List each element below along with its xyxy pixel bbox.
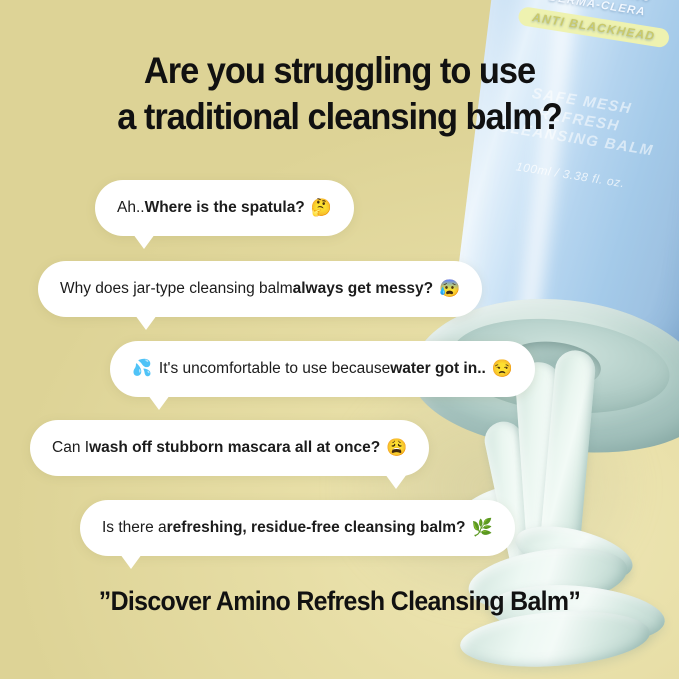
speech-bubble-spatula: Ah.. Where is the spatula? 🤔 xyxy=(95,180,354,236)
weary-face-icon: 😩 xyxy=(386,437,407,458)
bubble-tail xyxy=(133,234,155,249)
label-badge-anti-blackhead: ANTI BLACKHEAD xyxy=(517,6,670,49)
herb-leaf-icon: 🌿 xyxy=(472,517,493,538)
bubble-tail xyxy=(385,474,407,489)
bubble-tail xyxy=(120,554,142,569)
sweat-droplets-icon: 💦 xyxy=(132,359,152,379)
bubble-text-normal: It's uncomfortable to use because xyxy=(159,359,390,378)
label-volume: 100ml / 3.38 fl. oz. xyxy=(446,148,679,201)
bubble-tail xyxy=(135,315,157,330)
speech-bubble-mascara: Can I wash off stubborn mascara all at o… xyxy=(30,420,429,476)
bubble-text-bold: water got in.. xyxy=(390,359,486,378)
label-line-2: DERMA-CLERA xyxy=(473,0,679,32)
bubble-text-bold: Where is the spatula? xyxy=(145,198,305,217)
unamused-face-icon: 😒 xyxy=(492,358,513,379)
balm-strand xyxy=(514,361,576,594)
bubble-text-normal: Is there a xyxy=(102,518,167,537)
bubble-text-normal: Can I xyxy=(52,438,89,457)
speech-bubble-refreshing: Is there a refreshing, residue-free clea… xyxy=(80,500,515,556)
speech-bubble-messy: Why does jar-type cleansing balm always … xyxy=(38,261,482,317)
bubble-text-normal: Ah.. xyxy=(117,198,145,217)
speech-bubble-water: 💦 It's uncomfortable to use because wate… xyxy=(110,341,535,397)
bubble-text-bold: refreshing, residue-free cleansing balm? xyxy=(167,518,466,537)
balm-coil xyxy=(510,516,638,590)
label-line-1: BETAINE AMINO xyxy=(475,0,679,18)
promo-poster: BETAINE AMINO DERMA-CLERA ANTI BLACKHEAD… xyxy=(0,0,679,679)
bubble-text-normal: Why does jar-type cleansing balm xyxy=(60,279,293,298)
page-title: Are you struggling to use a traditional … xyxy=(24,48,655,140)
anxious-sweat-face-icon: 😰 xyxy=(439,278,460,299)
bubble-tail xyxy=(148,395,170,410)
bubble-text-bold: wash off stubborn mascara all at once? xyxy=(89,438,380,457)
bubble-text-bold: always get messy? xyxy=(293,279,433,298)
balm-strand xyxy=(535,349,597,602)
thinking-face-icon: 🤔 xyxy=(311,197,332,218)
tagline: ”Discover Amino Refresh Cleansing Balm” xyxy=(20,586,658,617)
